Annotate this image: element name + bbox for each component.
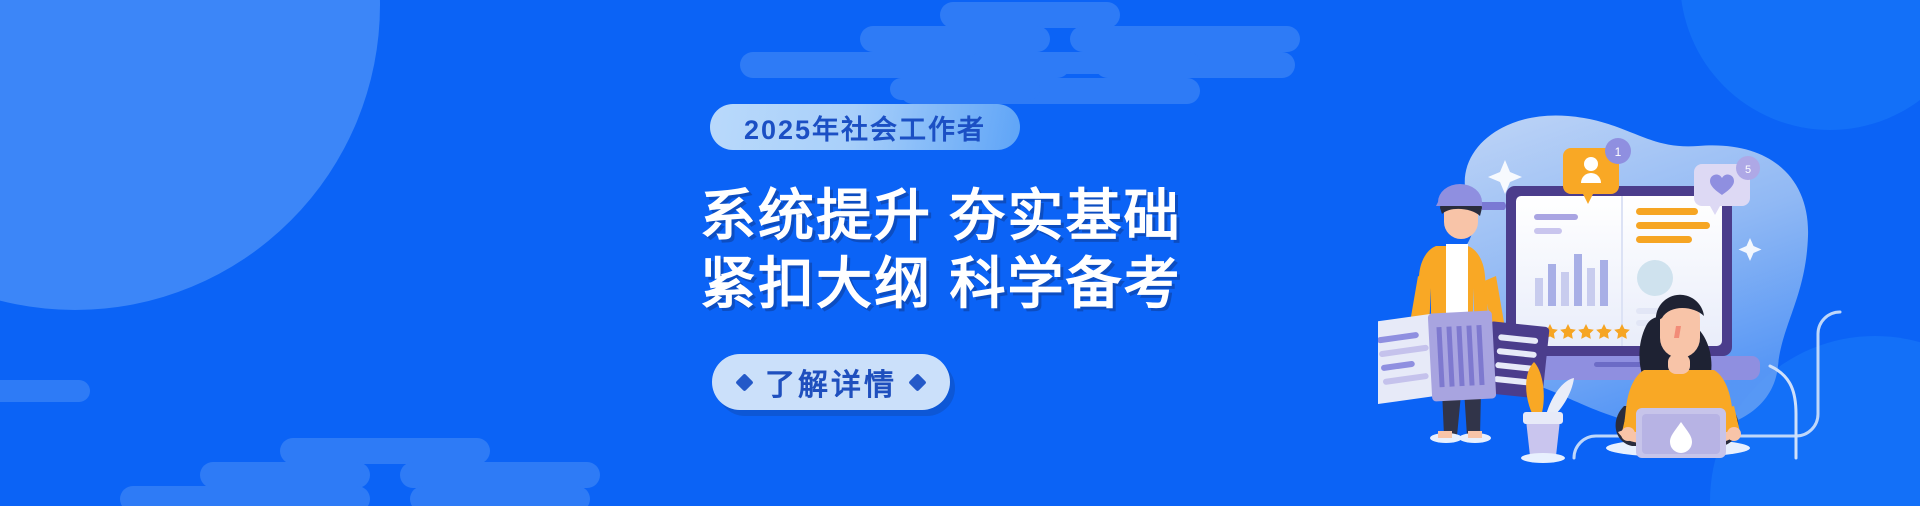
headline-line-2: 紧扣大纲 科学备考: [700, 250, 1182, 318]
learn-more-button-label: 了解详情: [765, 360, 897, 404]
campaign-tag-label: 2025年社会工作者: [744, 108, 986, 147]
diamond-icon-right: [908, 373, 926, 391]
hero-illustration: 1 5: [1378, 86, 1898, 486]
hero-illustration-svg: 1 5: [1378, 86, 1898, 486]
campaign-tag: 2025年社会工作者: [710, 104, 1020, 150]
page-title: 系统提升 夯实基础 紧扣大纲 科学备考: [700, 182, 1182, 318]
banner-content: 2025年社会工作者 系统提升 夯实基础 紧扣大纲 科学备考 了解详情: [0, 0, 1100, 506]
learn-more-button[interactable]: 了解详情: [712, 354, 950, 410]
decorative-cloud-top-right: [1120, 10, 1350, 90]
document-board-center: [1428, 310, 1497, 401]
diamond-icon-left: [735, 373, 753, 391]
promo-banner: 2025年社会工作者 系统提升 夯实基础 紧扣大纲 科学备考 了解详情: [0, 0, 1920, 506]
headline-line-1: 系统提升 夯实基础: [700, 182, 1182, 250]
like-count-label: 5: [1745, 164, 1751, 176]
follower-count-label: 1: [1615, 145, 1622, 159]
